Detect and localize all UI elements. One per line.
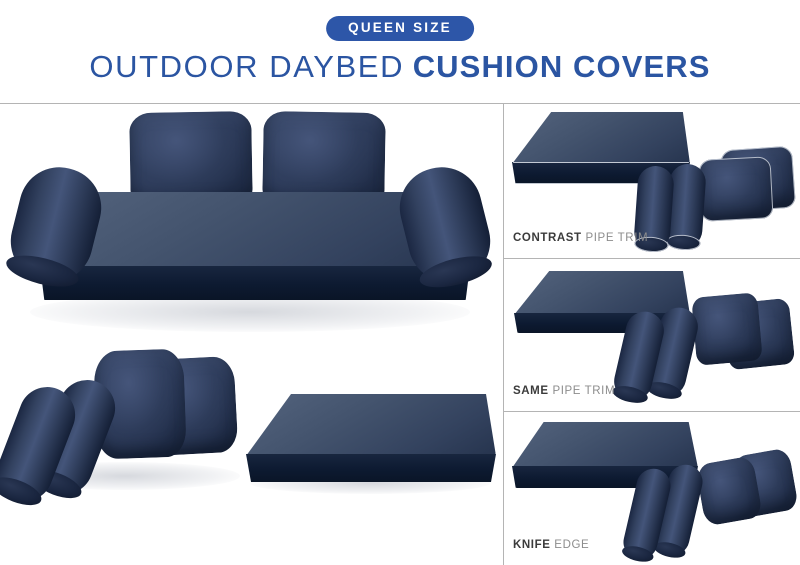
size-badge: QUEEN SIZE xyxy=(326,16,474,41)
panel3-pillow-front xyxy=(695,455,763,526)
panel1-label-light: PIPE TRIM xyxy=(585,232,648,244)
panel-knife-edge: KNIFE EDGE xyxy=(504,412,800,565)
panel1-label: CONTRAST PIPE TRIM xyxy=(513,233,648,245)
panel3-label-bold: KNIFE xyxy=(513,539,551,551)
hero-image xyxy=(0,104,503,349)
panel2-label-bold: SAME xyxy=(513,385,549,397)
panel1-mattress-piping xyxy=(513,162,689,163)
page-title-bold: CUSHION COVERS xyxy=(413,49,711,84)
panel1-pillow-front xyxy=(698,156,773,222)
panel2-label-light: PIPE TRIM xyxy=(552,385,615,397)
loose-cushion-group xyxy=(0,340,250,530)
panel2-pillow-front xyxy=(691,292,763,365)
panel1-label-bold: CONTRAST xyxy=(513,232,582,244)
page-title-light: OUTDOOR DAYBED xyxy=(89,49,404,84)
header: QUEEN SIZE OUTDOOR DAYBED CUSHION COVERS xyxy=(0,0,800,103)
panel3-label-light: EDGE xyxy=(554,539,589,551)
product-graphic: QUEEN SIZE OUTDOOR DAYBED CUSHION COVERS xyxy=(0,0,800,565)
daybed-mattress xyxy=(240,380,503,500)
page-title: OUTDOOR DAYBED CUSHION COVERS xyxy=(0,50,800,84)
panel3-label: KNIFE EDGE xyxy=(513,540,589,552)
panel-same-pipe-trim: SAME PIPE TRIM xyxy=(504,259,800,411)
panel2-label: SAME PIPE TRIM xyxy=(513,386,615,398)
mattress-body xyxy=(246,394,496,488)
panel-contrast-pipe-trim: CONTRAST PIPE TRIM xyxy=(504,104,800,258)
